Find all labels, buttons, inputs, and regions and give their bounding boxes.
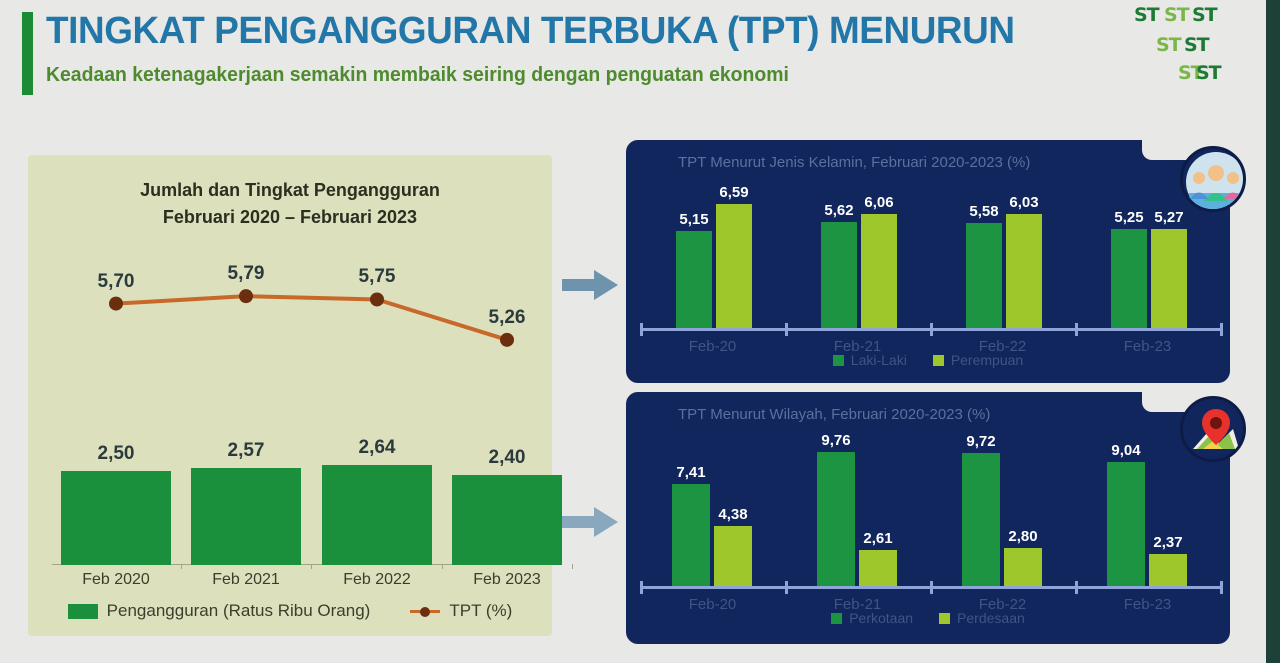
chart-bar-label: 9,76	[821, 432, 850, 449]
left-panel-legend: Pengangguran (Ratus Ribu Orang)TPT (%)	[28, 601, 552, 621]
axis-tick	[442, 564, 443, 569]
chart-bar-label: 6,03	[1009, 194, 1038, 211]
page-subtitle: Keadaan ketenagakerjaan semakin membaik …	[46, 64, 789, 87]
chart-bar	[714, 526, 752, 586]
chart-bar	[1107, 462, 1145, 586]
tpt-region-title: TPT Menurut Wilayah, Februari 2020-2023 …	[678, 406, 990, 423]
chart-bar	[817, 452, 855, 586]
chart-bar	[1111, 229, 1147, 328]
tpt-gender-title: TPT Menurut Jenis Kelamin, Februari 2020…	[678, 154, 1030, 171]
logo-cell: ST	[1134, 6, 1159, 25]
legend-swatch	[939, 613, 950, 624]
pengangguran-bar: 2,40	[452, 450, 562, 565]
pengangguran-bar-label: 2,57	[191, 440, 301, 462]
chart-bar	[859, 550, 897, 586]
chart-bar-label: 9,72	[966, 433, 995, 450]
chart-bar	[716, 204, 752, 328]
jumlah-dan-tingkat-pengangguran-panel: Jumlah dan Tingkat Pengangguran Februari…	[28, 155, 552, 636]
logo-cell: ST	[1164, 6, 1189, 25]
chart-axis-tick	[785, 323, 788, 336]
tpt-point-label: 5,75	[359, 266, 396, 288]
bar-rect	[322, 465, 432, 565]
axis-tick	[311, 564, 312, 569]
bps-statistics-logo: STSTSTSTSTSTST	[1134, 6, 1234, 106]
legend-item: Perempuan	[933, 352, 1023, 368]
chart-bar-label: 4,38	[718, 506, 747, 523]
chart-bar	[821, 222, 857, 328]
legend-swatch	[933, 355, 944, 366]
bar-rect	[61, 471, 171, 565]
legend-swatch	[833, 355, 844, 366]
arrow-to-region-chart	[562, 505, 618, 539]
chart-bar-label: 6,59	[719, 184, 748, 201]
left-panel-title-line1: Jumlah dan Tingkat Pengangguran	[28, 177, 552, 204]
chart-axis-tick	[930, 323, 933, 336]
pengangguran-bar: 2,57	[191, 450, 301, 565]
page-header: TINGKAT PENGANGGURAN TERBUKA (TPT) MENUR…	[0, 0, 1266, 112]
tpt-point-label: 5,70	[98, 271, 135, 293]
chart-bar-label: 5,62	[824, 202, 853, 219]
tpt-region-plot: 7,414,389,762,619,722,809,042,37	[640, 442, 1220, 586]
tpt-gender-legend: Laki-LakiPerempuan	[626, 352, 1230, 368]
legend-item: TPT (%)	[410, 601, 512, 621]
chart-bar	[962, 453, 1000, 586]
chart-bar-label: 9,04	[1111, 442, 1140, 459]
chart-bar-label: 5,58	[969, 203, 998, 220]
category-label: Feb 2023	[447, 571, 567, 589]
tpt-region-legend: PerkotaanPerdesaan	[626, 610, 1230, 626]
tpt-gender-card: TPT Menurut Jenis Kelamin, Februari 2020…	[626, 140, 1230, 383]
axis-tick	[572, 564, 573, 569]
pengangguran-bar-label: 2,64	[322, 437, 432, 459]
logo-cell: ST	[1192, 6, 1217, 25]
chart-axis-tick	[1075, 581, 1078, 594]
chart-axis-tick	[640, 323, 643, 336]
chart-bar	[861, 214, 897, 328]
tpt-region-card: TPT Menurut Wilayah, Februari 2020-2023 …	[626, 392, 1230, 644]
tpt-line-path	[28, 245, 552, 365]
arrow-to-gender-chart	[562, 268, 618, 302]
category-label: Feb 2022	[317, 571, 437, 589]
axis-tick	[181, 564, 182, 569]
tpt-gender-plot: 5,156,595,626,065,586,035,255,27	[640, 196, 1220, 328]
chart-axis-tick	[1220, 323, 1223, 336]
chart-bar	[1151, 229, 1187, 328]
map-pin-icon	[1180, 396, 1246, 462]
legend-label: Perdesaan	[957, 610, 1025, 626]
pengangguran-bar: 2,50	[61, 450, 171, 565]
tpt-point-label: 5,79	[228, 263, 265, 285]
legend-item: Laki-Laki	[833, 352, 907, 368]
chart-bar-label: 5,15	[679, 211, 708, 228]
legend-swatch	[68, 604, 98, 619]
bar-rect	[452, 475, 562, 565]
pengangguran-bar: 2,64	[322, 450, 432, 565]
chart-bar-label: 2,61	[863, 530, 892, 547]
chart-bar-label: 7,41	[676, 464, 705, 481]
chart-bar-label: 6,06	[864, 194, 893, 211]
tpt-point-label: 5,26	[489, 307, 526, 329]
left-panel-title-line2: Februari 2020 – Februari 2023	[28, 204, 552, 231]
chart-bar-label: 5,27	[1154, 209, 1183, 226]
pengangguran-bar-label: 2,40	[452, 447, 562, 469]
category-label: Feb 2021	[186, 571, 306, 589]
chart-bar-label: 5,25	[1114, 209, 1143, 226]
logo-cell: ST	[1156, 36, 1181, 55]
chart-axis-tick	[1220, 581, 1223, 594]
legend-label: Perkotaan	[849, 610, 913, 626]
chart-axis-tick	[1075, 323, 1078, 336]
legend-label: Laki-Laki	[851, 352, 907, 368]
left-panel-title: Jumlah dan Tingkat Pengangguran Februari…	[28, 177, 552, 231]
chart-bar	[1006, 214, 1042, 328]
chart-bar-label: 2,80	[1008, 528, 1037, 545]
tpt-line-series: 5,705,795,755,26	[28, 245, 552, 365]
logo-cell: ST	[1184, 36, 1209, 55]
page-title: TINGKAT PENGANGGURAN TERBUKA (TPT) MENUR…	[46, 10, 1015, 53]
header-accent-bar	[22, 12, 33, 95]
chart-bar	[676, 231, 712, 328]
chart-bar	[672, 484, 710, 586]
legend-swatch	[831, 613, 842, 624]
category-label: Feb 2020	[56, 571, 176, 589]
right-edge-strip	[1266, 0, 1280, 663]
people-group-icon	[1180, 146, 1246, 212]
chart-axis-tick	[640, 581, 643, 594]
chart-axis-tick	[930, 581, 933, 594]
chart-bar	[966, 223, 1002, 328]
legend-item: Pengangguran (Ratus Ribu Orang)	[68, 601, 371, 621]
pengangguran-bar-label: 2,50	[61, 443, 171, 465]
chart-bar	[1149, 554, 1187, 587]
legend-item: Perkotaan	[831, 610, 913, 626]
bar-rect	[191, 468, 301, 565]
legend-label: Perempuan	[951, 352, 1023, 368]
logo-cell: ST	[1196, 64, 1221, 83]
chart-axis-tick	[785, 581, 788, 594]
legend-item: Perdesaan	[939, 610, 1025, 626]
legend-label: Pengangguran (Ratus Ribu Orang)	[107, 601, 371, 621]
chart-bar	[1004, 548, 1042, 586]
chart-bar-label: 2,37	[1153, 534, 1182, 551]
legend-line-marker	[410, 604, 440, 619]
legend-label: TPT (%)	[449, 601, 512, 621]
pengangguran-bar-series: 2,502,572,642,40	[40, 405, 540, 565]
